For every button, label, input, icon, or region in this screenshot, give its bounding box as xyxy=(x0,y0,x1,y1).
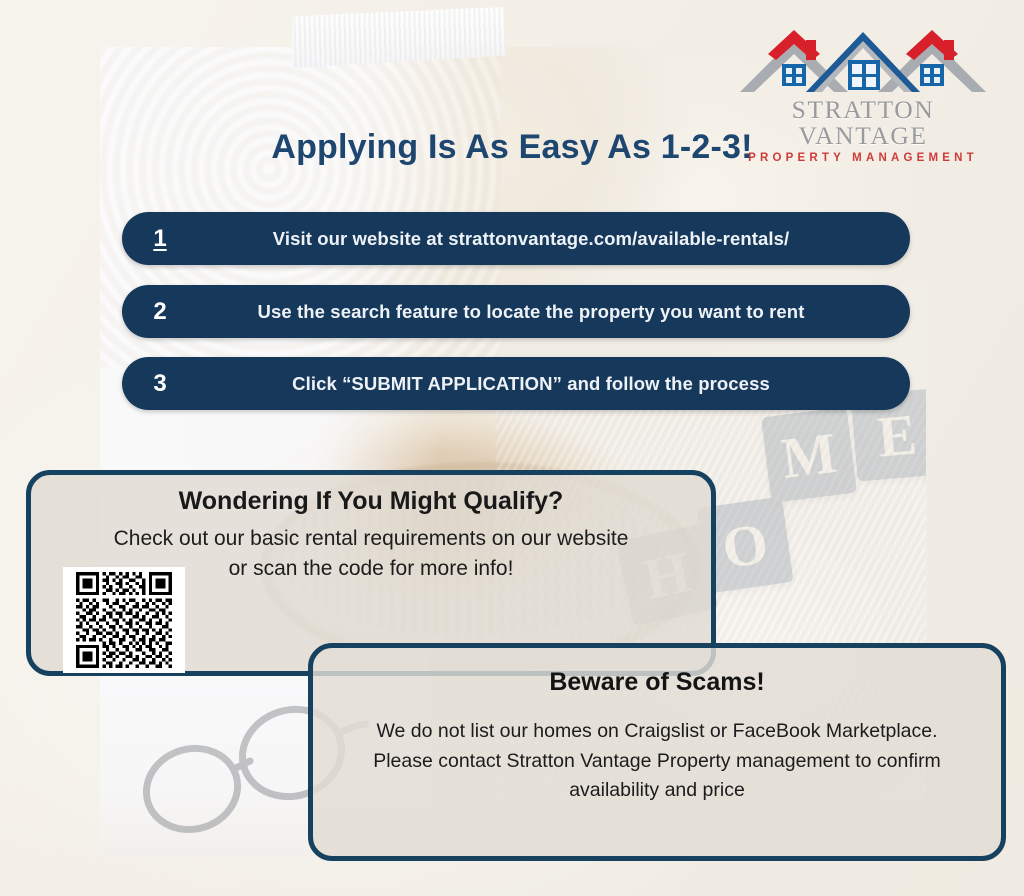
step-item-1[interactable]: 1 Visit our website at strattonvantage.c… xyxy=(122,212,910,265)
step-number: 3 xyxy=(122,370,198,398)
scams-title: Beware of Scams! xyxy=(313,668,1001,697)
block-letter: M xyxy=(761,407,857,503)
step-text: Use the search feature to locate the pro… xyxy=(198,301,910,323)
three-house-roofs-icon xyxy=(724,24,1002,96)
poster-canvas: H O M E xyxy=(0,0,1024,896)
qualify-line-1: Check out our basic rental requirements … xyxy=(31,525,711,553)
scams-line-1: We do not list our homes on Craigslist o… xyxy=(313,717,1001,747)
step-text: Visit our website at strattonvantage.com… xyxy=(198,228,910,250)
scams-body: We do not list our homes on Craigslist o… xyxy=(313,717,1001,806)
qr-code[interactable] xyxy=(63,567,185,673)
qr-code-icon xyxy=(68,572,180,668)
step-item-3[interactable]: 3 Click “SUBMIT APPLICATION” and follow … xyxy=(122,357,910,410)
step-number: 1 xyxy=(122,225,198,253)
scams-line-2: Please contact Stratton Vantage Property… xyxy=(313,747,1001,777)
page-title: Applying Is As Easy As 1-2-3! xyxy=(0,128,1024,167)
step-number: 2 xyxy=(122,298,198,326)
scams-callout: Beware of Scams! We do not list our home… xyxy=(308,643,1006,861)
qualify-title: Wondering If You Might Qualify? xyxy=(31,487,711,516)
scams-line-3: availability and price xyxy=(313,776,1001,806)
step-text: Click “SUBMIT APPLICATION” and follow th… xyxy=(198,373,910,395)
company-logo: STRATTON VANTAGE PROPERTY MANAGEMENT xyxy=(724,24,1002,132)
step-item-2[interactable]: 2 Use the search feature to locate the p… xyxy=(122,285,910,338)
